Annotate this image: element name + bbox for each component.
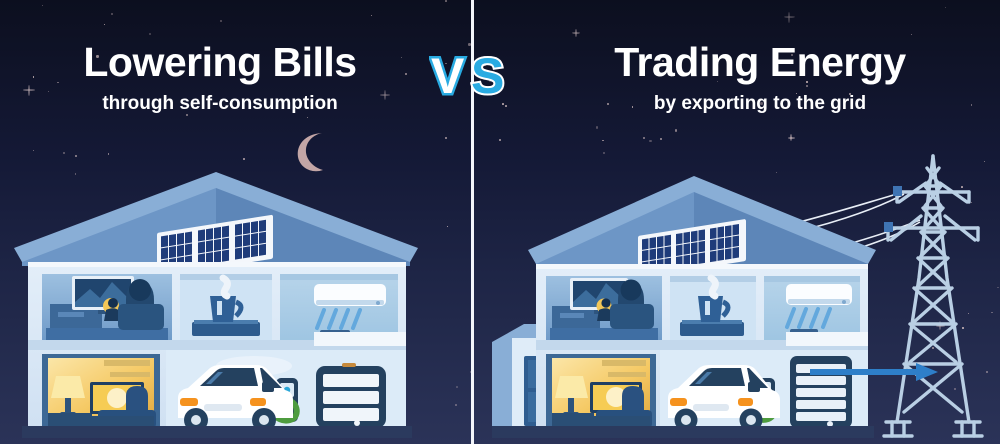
right-title-block: Trading Energy by exporting to the grid [530, 42, 990, 113]
star [307, 117, 308, 118]
versus-badge: V S [429, 49, 515, 101]
right-title: Trading Energy [530, 42, 990, 83]
star [111, 13, 113, 15]
grid-export-house [490, 170, 910, 444]
star [660, 138, 662, 140]
infographic-canvas: Lowering Bills through self-consumption … [0, 0, 1000, 444]
star [447, 226, 449, 228]
right-subtitle: by exporting to the grid [530, 94, 990, 113]
star [456, 386, 458, 388]
star [104, 24, 105, 25]
star [75, 155, 77, 157]
star [505, 105, 507, 107]
star-sparkle [788, 134, 795, 141]
star [602, 140, 604, 142]
left-title: Lowering Bills [0, 42, 440, 83]
upper-left-tv-room [42, 274, 172, 342]
star [499, 139, 501, 141]
star [596, 126, 598, 128]
lower-left-living-room [546, 354, 656, 430]
versus-letter-v: V [431, 49, 465, 101]
table-lamp [51, 376, 85, 398]
home-battery-unit [316, 363, 386, 428]
star [445, 0, 447, 2]
star-sparkle [784, 12, 796, 24]
lower-left-living-room [42, 354, 160, 430]
star [371, 15, 372, 16]
upper-middle-kitchen [180, 274, 272, 342]
star [502, 103, 504, 105]
star [63, 152, 66, 155]
garage [166, 350, 406, 432]
upper-right-ac-room [280, 274, 398, 342]
star [945, 7, 946, 8]
star [643, 137, 645, 139]
star-sparkle [572, 29, 580, 37]
star [186, 114, 188, 116]
crescent-moon [292, 130, 332, 174]
table-lamp [555, 376, 588, 398]
star [911, 34, 912, 35]
energy-export-arrow [810, 360, 940, 384]
versus-letter-s: S [471, 49, 504, 101]
star [675, 129, 677, 131]
star [42, 5, 43, 6]
star [649, 140, 652, 143]
left-subtitle: through self-consumption [0, 94, 440, 113]
upper-left-tv-room [546, 276, 662, 342]
upper-middle-kitchen [670, 276, 756, 342]
star [603, 152, 605, 154]
star [149, 33, 151, 35]
star [455, 404, 457, 406]
self-consumption-house [14, 170, 434, 444]
left-title-block: Lowering Bills through self-consumption [0, 42, 440, 113]
star [243, 158, 245, 160]
star [220, 20, 222, 22]
star [445, 137, 447, 139]
star [108, 153, 110, 155]
star [33, 150, 34, 151]
